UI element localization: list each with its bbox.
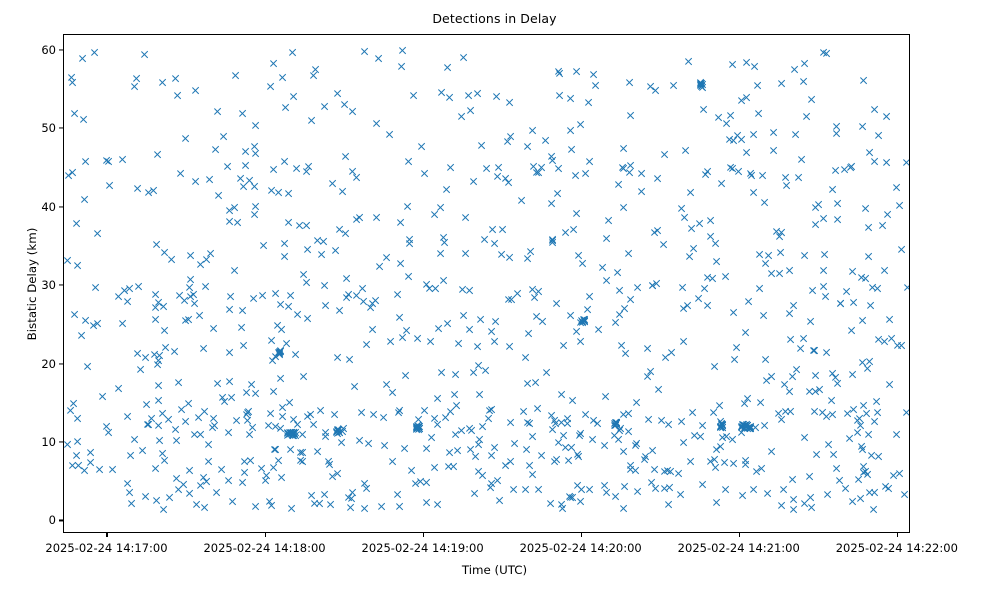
scatter-point	[350, 382, 359, 391]
scatter-point	[335, 428, 344, 437]
scatter-point	[548, 152, 557, 161]
scatter-point	[196, 260, 205, 269]
scatter-point	[478, 422, 487, 431]
scatter-point	[289, 428, 298, 437]
scatter-point	[664, 420, 673, 429]
scatter-point	[865, 252, 874, 261]
scatter-point	[828, 410, 837, 419]
scatter-point	[580, 316, 589, 325]
x-axis-label: Time (UTC)	[0, 563, 989, 577]
scatter-point	[872, 397, 881, 406]
scatter-point	[777, 501, 786, 510]
scatter-point	[895, 469, 904, 478]
scatter-point	[554, 438, 563, 447]
scatter-point	[644, 415, 653, 424]
scatter-point	[711, 463, 720, 472]
scatter-point	[578, 318, 587, 327]
scatter-point	[276, 346, 285, 355]
scatter-point	[446, 93, 455, 102]
scatter-point	[102, 422, 111, 431]
scatter-point	[82, 157, 91, 166]
scatter-point	[494, 163, 503, 172]
scatter-point	[846, 163, 855, 172]
scatter-point	[484, 414, 493, 423]
scatter-point	[547, 199, 556, 208]
scatter-point	[741, 456, 750, 465]
scatter-point	[777, 79, 786, 88]
scatter-point	[102, 156, 111, 165]
scatter-point	[745, 424, 754, 433]
scatter-point	[716, 422, 725, 431]
scatter-point	[396, 259, 405, 268]
scatter-point	[447, 407, 456, 416]
scatter-point	[276, 348, 285, 357]
scatter-point	[320, 490, 329, 499]
scatter-point	[454, 339, 463, 348]
scatter-point	[149, 186, 158, 195]
scatter-point	[832, 129, 841, 138]
scatter-point	[385, 130, 394, 139]
scatter-point	[806, 317, 815, 326]
scatter-point	[270, 59, 279, 68]
y-tick-label: 60	[16, 43, 56, 57]
scatter-point	[416, 477, 425, 486]
scatter-point	[191, 86, 200, 95]
scatter-point	[810, 407, 819, 416]
scatter-point	[746, 424, 755, 433]
scatter-point	[195, 311, 204, 320]
scatter-point	[624, 427, 633, 436]
scatter-point	[321, 432, 330, 441]
scatter-point	[611, 418, 620, 427]
scatter-point	[437, 368, 446, 377]
scatter-point	[562, 443, 571, 452]
scatter-point	[695, 219, 704, 228]
scatter-point	[161, 343, 170, 352]
scatter-point	[732, 343, 741, 352]
scatter-point	[152, 290, 161, 299]
scatter-point	[328, 472, 337, 481]
scatter-point	[154, 298, 163, 307]
scatter-point	[274, 321, 283, 330]
scatter-point	[873, 284, 882, 293]
scatter-point	[747, 169, 756, 178]
scatter-point	[858, 445, 867, 454]
scatter-point	[625, 168, 634, 177]
scatter-point	[333, 425, 342, 434]
scatter-point	[236, 174, 245, 183]
scatter-point	[786, 309, 795, 318]
scatter-point	[768, 269, 777, 278]
scatter-point	[535, 287, 544, 296]
scatter-point	[252, 121, 261, 130]
scatter-point	[197, 430, 206, 439]
scatter-point	[829, 450, 838, 459]
scatter-point	[579, 315, 588, 324]
scatter-point	[686, 188, 695, 197]
scatter-point	[616, 424, 625, 433]
scatter-point	[172, 436, 181, 445]
scatter-point	[782, 407, 791, 416]
scatter-point	[422, 478, 431, 487]
scatter-point	[563, 414, 572, 423]
scatter-point	[800, 59, 809, 68]
scatter-point	[749, 130, 758, 139]
scatter-point	[280, 239, 289, 248]
scatter-point	[576, 337, 585, 346]
scatter-point	[696, 78, 705, 87]
scatter-point	[743, 394, 752, 403]
scatter-point	[533, 404, 542, 413]
scatter-point	[758, 171, 767, 180]
scatter-point	[524, 329, 533, 338]
scatter-point	[203, 477, 212, 486]
scatter-point	[716, 423, 725, 432]
scatter-point	[480, 235, 489, 244]
scatter-point	[820, 250, 829, 259]
scatter-point	[866, 301, 875, 310]
scatter-point	[610, 419, 619, 428]
scatter-point	[293, 164, 302, 173]
scatter-point	[892, 183, 901, 192]
scatter-point	[610, 421, 619, 430]
scatter-point	[401, 371, 410, 380]
scatter-point	[696, 81, 705, 90]
scatter-point	[842, 287, 851, 296]
scatter-point	[139, 446, 148, 455]
scatter-point	[694, 294, 703, 303]
scatter-point	[757, 464, 766, 473]
scatter-point	[706, 457, 715, 466]
scatter-point	[713, 445, 722, 454]
scatter-point	[186, 275, 195, 284]
scatter-point	[476, 435, 485, 444]
x-tick-label: 2025-02-24 14:18:00	[203, 541, 325, 555]
scatter-point	[535, 168, 544, 177]
scatter-point	[289, 92, 298, 101]
scatter-point	[679, 438, 688, 447]
scatter-point	[475, 467, 484, 476]
scatter-point	[848, 267, 857, 276]
scatter-point	[86, 458, 95, 467]
scatter-point	[118, 155, 127, 164]
scatter-point	[153, 496, 162, 505]
scatter-point	[743, 421, 752, 430]
scatter-point	[795, 173, 804, 182]
scatter-point	[523, 379, 532, 388]
scatter-point	[632, 398, 641, 407]
scatter-point	[161, 326, 170, 335]
scatter-point	[764, 489, 773, 498]
scatter-point	[411, 479, 420, 488]
scatter-point	[413, 334, 422, 343]
scatter-point	[64, 440, 73, 449]
scatter-point	[773, 227, 782, 236]
scatter-point	[786, 335, 795, 344]
scatter-point	[158, 78, 167, 87]
scatter-point	[422, 444, 431, 453]
scatter-point	[481, 366, 490, 375]
scatter-point	[555, 91, 564, 100]
scatter-point	[621, 349, 630, 358]
scatter-point	[239, 341, 248, 350]
scatter-point	[716, 422, 725, 431]
scatter-point	[258, 464, 267, 473]
scatter-point	[492, 92, 501, 101]
scatter-point	[404, 272, 413, 281]
scatter-point	[865, 148, 874, 157]
scatter-point	[527, 247, 536, 256]
scatter-point	[716, 423, 725, 432]
scatter-point	[285, 398, 294, 407]
scatter-point	[326, 500, 335, 509]
scatter-point	[185, 399, 194, 408]
chart-figure: Detections in Delay Bistatic Delay (km) …	[0, 0, 989, 590]
scatter-point	[542, 368, 551, 377]
scatter-point	[903, 158, 910, 167]
scatter-point	[857, 273, 866, 282]
scatter-point	[328, 179, 337, 188]
scatter-point	[64, 171, 73, 180]
scatter-point	[800, 433, 809, 442]
scatter-point	[415, 424, 424, 433]
scatter-point	[217, 465, 226, 474]
scatter-point	[834, 379, 843, 388]
scatter-point	[414, 415, 423, 424]
scatter-point	[566, 493, 575, 502]
scatter-point	[602, 234, 611, 243]
scatter-point	[640, 455, 649, 464]
scatter-point	[324, 457, 333, 466]
scatter-point	[820, 266, 829, 275]
scatter-point	[785, 387, 794, 396]
scatter-point	[648, 281, 657, 290]
scatter-point	[399, 46, 408, 55]
scatter-point	[296, 448, 305, 457]
scatter-points-layer	[64, 35, 909, 532]
scatter-point	[611, 421, 620, 430]
scatter-point	[625, 78, 634, 87]
scatter-point	[555, 67, 564, 76]
scatter-point	[159, 409, 168, 418]
scatter-point	[858, 316, 867, 325]
scatter-point	[445, 462, 454, 471]
scatter-point	[541, 136, 550, 145]
scatter-point	[442, 185, 451, 194]
scatter-point	[252, 502, 261, 511]
scatter-point	[136, 365, 145, 374]
scatter-point	[528, 285, 537, 294]
scatter-point	[679, 283, 688, 292]
scatter-point	[214, 191, 223, 200]
scatter-point	[275, 350, 284, 359]
scatter-point	[604, 216, 613, 225]
scatter-point	[729, 164, 738, 173]
scatter-point	[242, 388, 251, 397]
scatter-point	[755, 284, 764, 293]
scatter-point	[706, 216, 715, 225]
scatter-point	[288, 429, 297, 438]
scatter-point	[317, 250, 326, 259]
scatter-point	[343, 293, 352, 302]
scatter-point	[352, 173, 361, 182]
scatter-point	[400, 444, 409, 453]
scatter-point	[529, 126, 538, 135]
scatter-point	[756, 398, 765, 407]
scatter-point	[452, 430, 461, 439]
scatter-point	[548, 425, 557, 434]
scatter-point	[749, 188, 758, 197]
scatter-point	[862, 409, 871, 418]
scatter-point	[344, 290, 353, 299]
scatter-point	[276, 300, 285, 309]
scatter-point	[466, 106, 475, 115]
scatter-point	[239, 182, 248, 191]
scatter-point	[490, 239, 499, 248]
scatter-point	[288, 429, 297, 438]
scatter-point	[689, 408, 698, 417]
scatter-point	[207, 249, 216, 258]
scatter-point	[753, 81, 762, 90]
scatter-point	[186, 489, 195, 498]
scatter-point	[177, 169, 186, 178]
scatter-point	[696, 80, 705, 89]
scatter-point	[800, 334, 809, 343]
scatter-point	[210, 421, 219, 430]
scatter-point	[832, 122, 841, 131]
scatter-point	[175, 291, 184, 300]
scatter-point	[472, 452, 481, 461]
scatter-point	[565, 456, 574, 465]
scatter-point	[340, 100, 349, 109]
scatter-point	[740, 424, 749, 433]
scatter-point	[372, 213, 381, 222]
scatter-point	[593, 419, 602, 428]
scatter-point	[841, 484, 850, 493]
scatter-point	[485, 406, 494, 415]
scatter-point	[285, 428, 294, 437]
scatter-point	[286, 428, 295, 437]
scatter-point	[737, 135, 746, 144]
scatter-point	[277, 325, 286, 334]
scatter-point	[414, 423, 423, 432]
scatter-point	[788, 475, 797, 484]
scatter-point	[882, 112, 891, 121]
scatter-point	[548, 236, 557, 245]
scatter-point	[790, 65, 799, 74]
scatter-point	[507, 418, 516, 427]
y-tick-label: 40	[16, 200, 56, 214]
scatter-point	[276, 374, 285, 383]
scatter-point	[231, 266, 240, 275]
scatter-point	[123, 412, 132, 421]
scatter-point	[662, 353, 671, 362]
scatter-point	[144, 420, 153, 429]
scatter-point	[833, 199, 842, 208]
scatter-point	[716, 442, 725, 451]
scatter-point	[791, 130, 800, 139]
scatter-point	[286, 291, 295, 300]
scatter-point	[247, 380, 256, 389]
scatter-point	[818, 408, 827, 417]
scatter-point	[510, 439, 519, 448]
scatter-point	[751, 423, 760, 432]
scatter-point	[612, 418, 621, 427]
x-tick-label: 2025-02-24 14:17:00	[45, 541, 167, 555]
scatter-point	[95, 465, 104, 474]
scatter-point	[159, 449, 168, 458]
scatter-point	[283, 429, 292, 438]
scatter-point	[633, 439, 642, 448]
scatter-point	[422, 498, 431, 507]
y-tick-label: 0	[16, 513, 56, 527]
scatter-point	[790, 301, 799, 310]
scatter-point	[291, 431, 300, 440]
scatter-point	[660, 150, 669, 159]
scatter-point	[874, 131, 883, 140]
scatter-point	[276, 424, 285, 433]
scatter-point	[261, 476, 270, 485]
scatter-point	[586, 157, 595, 166]
scatter-point	[302, 278, 311, 287]
scatter-point	[742, 148, 751, 157]
scatter-point	[861, 467, 870, 476]
scatter-point	[240, 457, 249, 466]
scatter-point	[569, 396, 578, 405]
scatter-point	[615, 426, 624, 435]
scatter-point	[439, 233, 448, 242]
scatter-point	[284, 302, 293, 311]
scatter-point	[340, 424, 349, 433]
scatter-point	[762, 259, 771, 268]
scatter-point	[859, 401, 868, 410]
scatter-point	[819, 214, 828, 223]
scatter-point	[898, 245, 907, 254]
scatter-point	[363, 484, 372, 493]
scatter-point	[611, 421, 620, 430]
scatter-point	[854, 416, 863, 425]
scatter-point	[450, 390, 459, 399]
scatter-point	[194, 413, 203, 422]
scatter-point	[843, 409, 852, 418]
scatter-point	[769, 128, 778, 137]
scatter-point	[892, 430, 901, 439]
scatter-point	[728, 435, 737, 444]
scatter-point	[518, 196, 527, 205]
scatter-point	[490, 443, 499, 452]
scatter-point	[856, 421, 865, 430]
scatter-point	[298, 430, 307, 439]
scatter-point	[580, 317, 589, 326]
scatter-point	[749, 485, 758, 494]
scatter-point	[445, 448, 454, 457]
scatter-point	[460, 53, 469, 62]
scatter-point	[430, 463, 439, 472]
scatter-point	[186, 292, 195, 301]
scatter-point	[287, 428, 296, 437]
scatter-point	[307, 410, 316, 419]
scatter-point	[320, 237, 329, 246]
scatter-point	[853, 428, 862, 437]
scatter-point	[522, 353, 531, 362]
scatter-point	[718, 420, 727, 429]
scatter-point	[159, 505, 168, 514]
scatter-point	[396, 218, 405, 227]
scatter-point	[856, 414, 865, 423]
scatter-point	[531, 378, 540, 387]
scatter-point	[738, 420, 747, 429]
scatter-point	[737, 423, 746, 432]
